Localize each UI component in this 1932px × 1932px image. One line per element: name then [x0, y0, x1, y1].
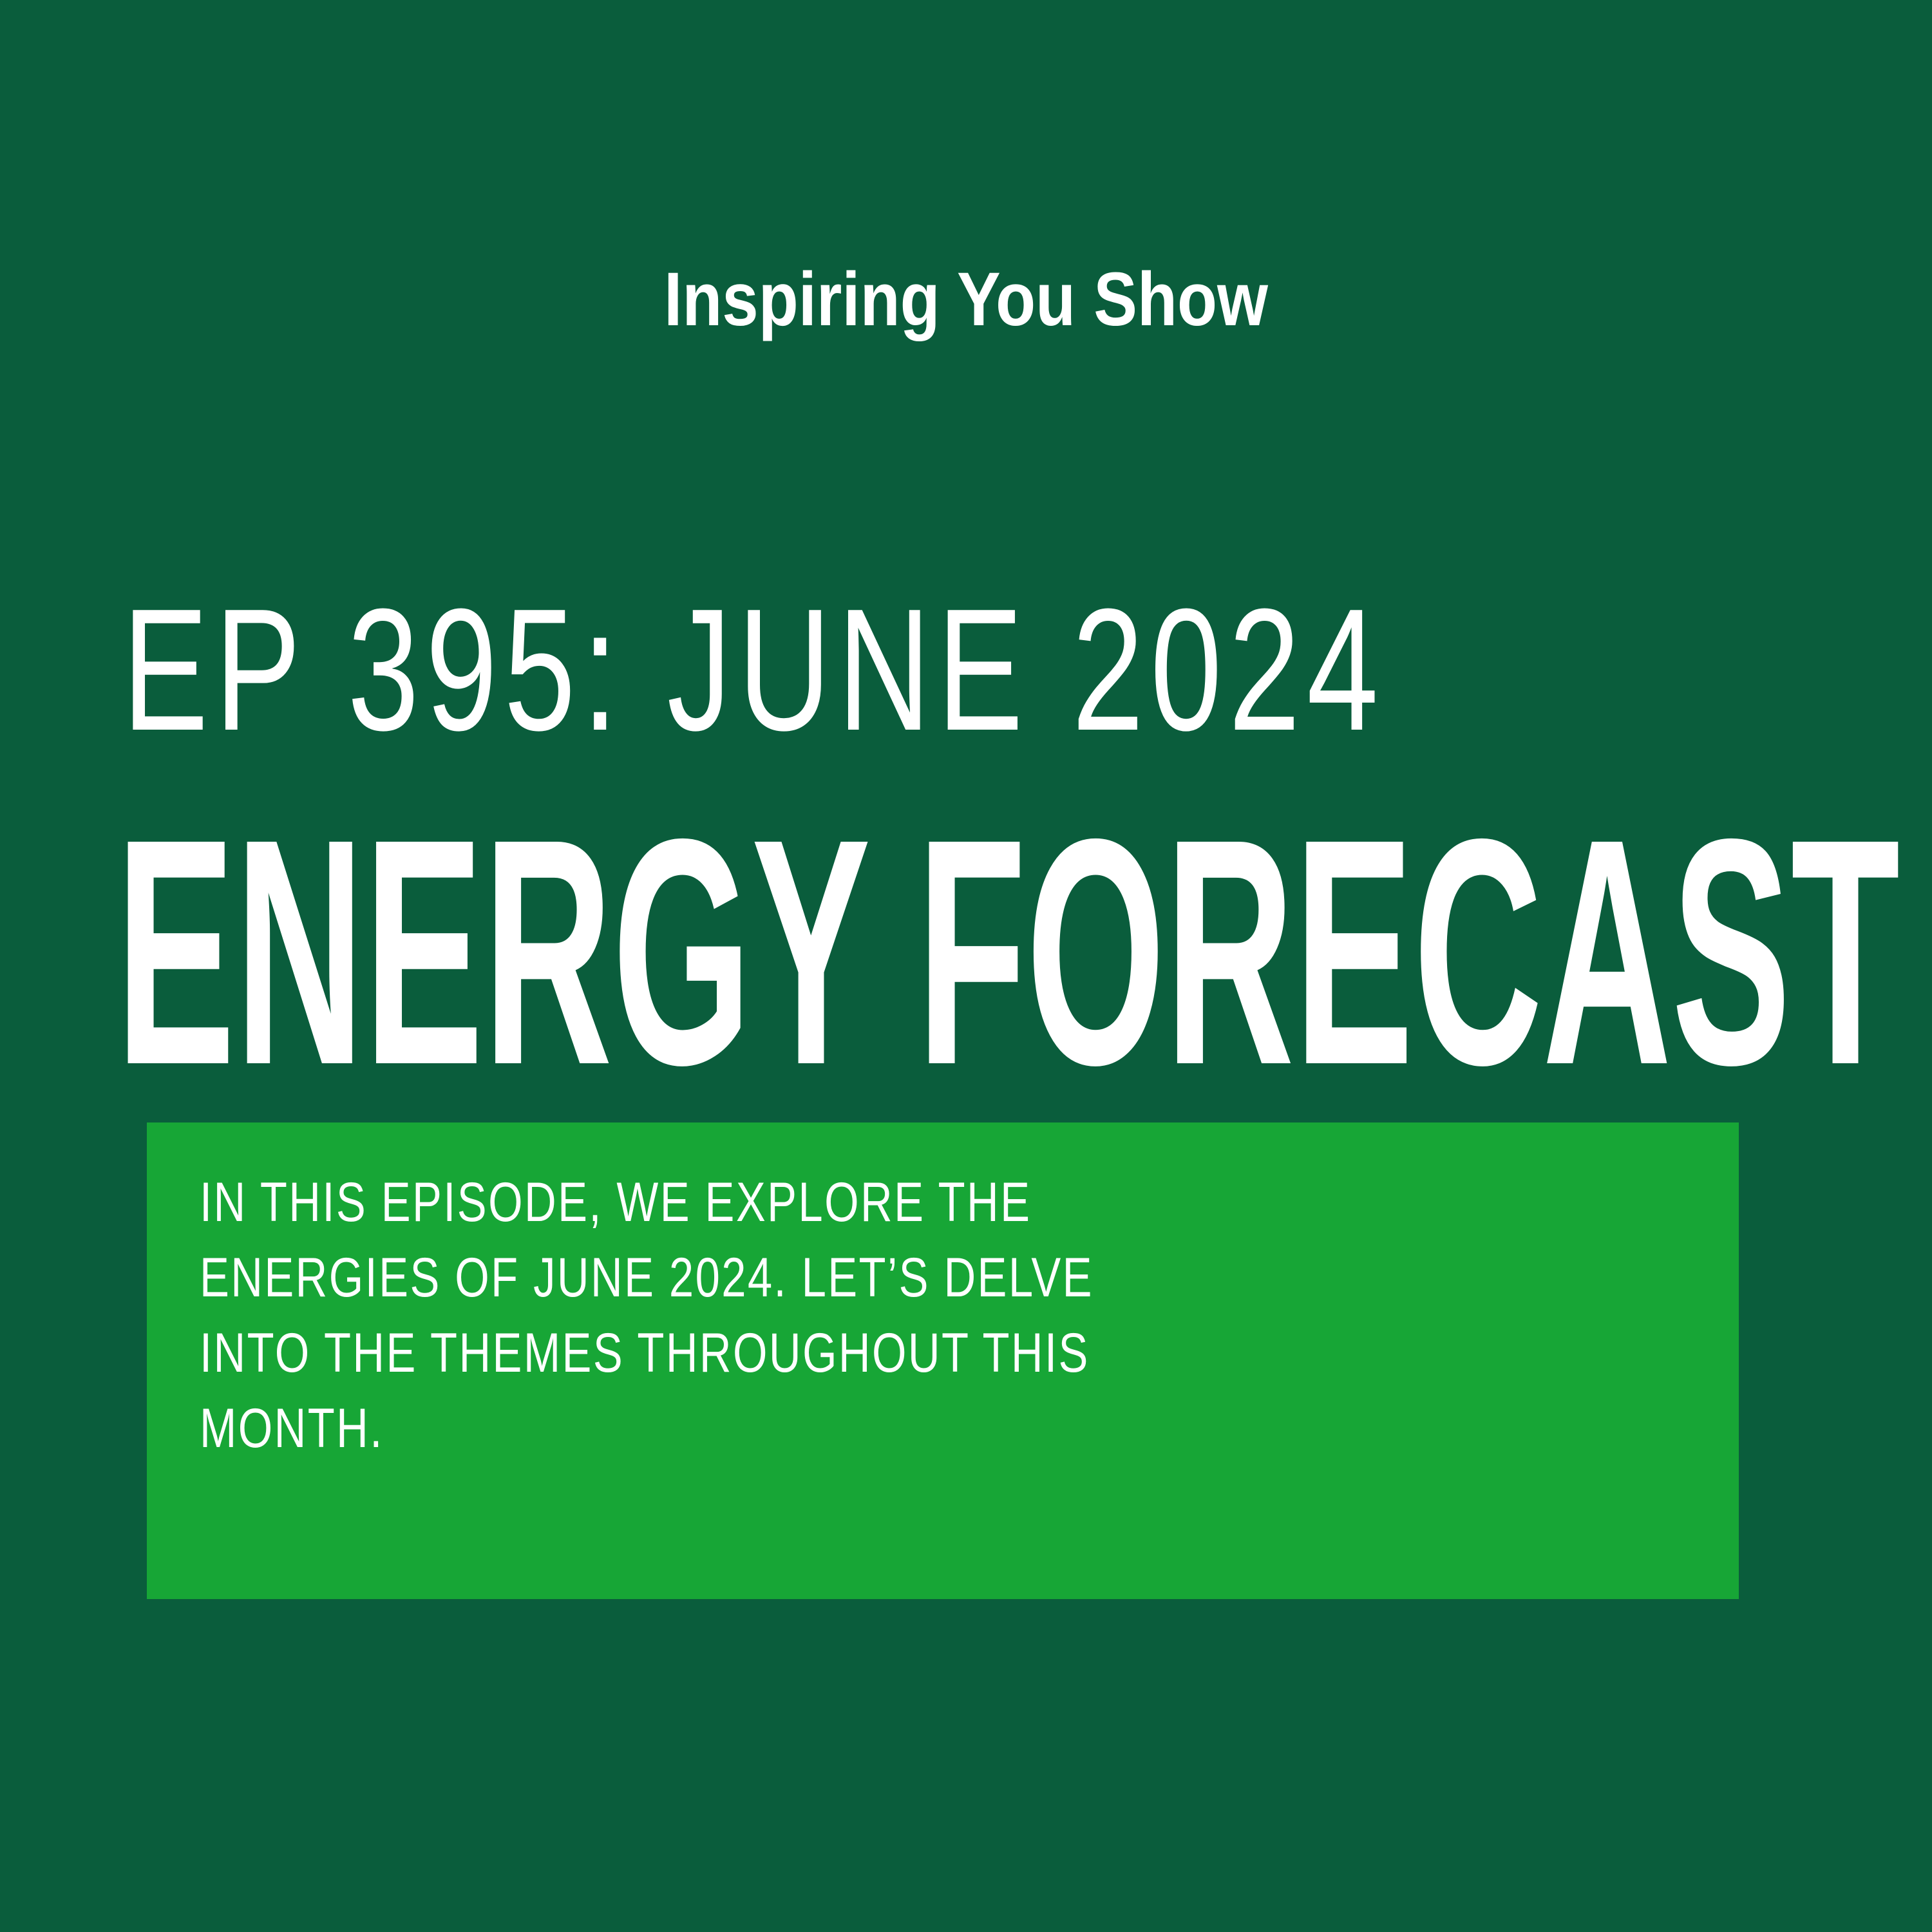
description-line: MONTH. [200, 1391, 1400, 1466]
description-panel: IN THIS EPISODE, WE EXPLORE THE ENERGIES… [147, 1122, 1739, 1599]
podcast-cover-art: Inspiring You Show EP 395: JUNE 2024 ENE… [0, 0, 1932, 1932]
description-text: IN THIS EPISODE, WE EXPLORE THE ENERGIES… [200, 1165, 1700, 1466]
description-line: ENERGIES OF JUNE 2024. LET’S DELVE [200, 1240, 1400, 1316]
description-line: IN THIS EPISODE, WE EXPLORE THE [200, 1165, 1400, 1240]
page-title: ENERGY FORECAST [116, 791, 1066, 1113]
show-name: Inspiring You Show [135, 258, 1797, 341]
description-line: INTO THE THEMES THROUGHOUT THIS [200, 1316, 1400, 1391]
episode-label: EP 395: JUNE 2024 [122, 583, 1371, 758]
